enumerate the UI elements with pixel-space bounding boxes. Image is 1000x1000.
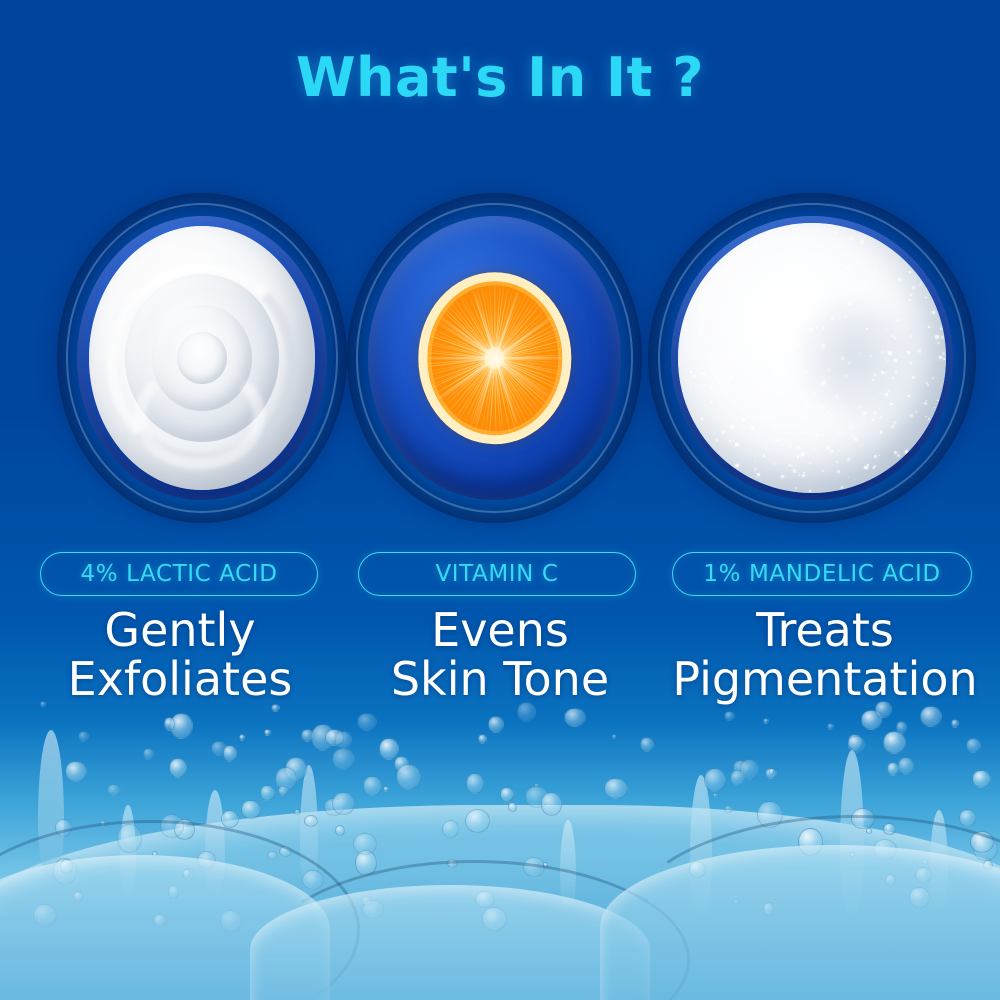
water-droplet bbox=[260, 785, 275, 801]
infographic-canvas: What's In It ? bbox=[0, 0, 1000, 1000]
powder-grain bbox=[848, 301, 851, 304]
orange-pith-line bbox=[496, 357, 565, 360]
water-droplet bbox=[466, 773, 484, 794]
powder-grain bbox=[907, 395, 909, 397]
powder-grain bbox=[719, 269, 720, 270]
powder-grain bbox=[851, 435, 852, 436]
water-droplet bbox=[294, 809, 301, 815]
powder-grain bbox=[772, 441, 774, 443]
powder-grain bbox=[874, 412, 876, 414]
powder-grain bbox=[745, 275, 747, 277]
powder-grain bbox=[723, 353, 726, 356]
water-droplet bbox=[357, 713, 377, 731]
powder-grain bbox=[773, 325, 775, 327]
powder-grain bbox=[747, 334, 749, 336]
powder-grain bbox=[816, 326, 818, 328]
powder-grain bbox=[808, 314, 811, 317]
powder-grain bbox=[791, 411, 794, 414]
powder-grain bbox=[784, 306, 786, 308]
powder-grain bbox=[755, 331, 757, 333]
powder-grain bbox=[796, 375, 797, 376]
cream-swirl-image bbox=[89, 226, 315, 490]
benefit-line-1: Evens bbox=[345, 606, 655, 655]
water-droplet bbox=[730, 770, 745, 786]
powder-grain bbox=[939, 356, 942, 359]
water-droplet bbox=[353, 833, 378, 855]
powder-grain bbox=[754, 243, 757, 246]
powder-grain bbox=[734, 277, 737, 280]
water-droplet bbox=[887, 762, 899, 777]
powder-grain bbox=[821, 293, 824, 296]
powder-grain bbox=[717, 378, 718, 379]
powder-grain bbox=[910, 335, 912, 337]
powder-grain bbox=[788, 464, 790, 466]
powder-grain bbox=[897, 454, 900, 457]
powder-grain bbox=[890, 403, 892, 405]
benefit-line-1: Gently bbox=[20, 606, 340, 655]
powder-grain bbox=[710, 401, 713, 404]
powder-grain bbox=[902, 396, 903, 397]
powder-grain bbox=[698, 305, 700, 307]
powder-grain bbox=[780, 437, 782, 439]
powder-grain bbox=[718, 381, 721, 384]
water-droplet bbox=[488, 716, 503, 733]
water-droplet bbox=[107, 784, 121, 796]
orange-pith-line bbox=[427, 357, 496, 360]
powder-grain bbox=[803, 264, 806, 267]
powder-grain bbox=[710, 386, 713, 389]
water-droplet bbox=[896, 721, 907, 733]
water-droplet bbox=[875, 701, 892, 718]
powder-grain bbox=[798, 290, 799, 291]
powder-grain bbox=[758, 303, 760, 305]
powder-grain bbox=[891, 425, 894, 428]
ingredient-bowl-vitamin-c bbox=[347, 193, 642, 523]
ingredient-bowl-lactic-acid bbox=[57, 193, 347, 523]
powder-grain bbox=[693, 375, 696, 378]
powder-grain bbox=[763, 455, 764, 456]
powder-grain bbox=[769, 318, 770, 319]
powder-grain bbox=[937, 400, 939, 402]
water-droplet bbox=[827, 723, 834, 730]
water-droplet bbox=[951, 719, 959, 728]
powder-grain bbox=[797, 446, 800, 449]
water-droplet bbox=[169, 758, 187, 778]
water-droplet bbox=[78, 731, 89, 743]
powder-grain bbox=[831, 317, 833, 319]
powder-grain bbox=[885, 372, 886, 373]
powder-grain bbox=[925, 297, 926, 298]
water-droplet bbox=[304, 815, 317, 827]
powder-grain bbox=[797, 455, 799, 457]
powder-grain bbox=[704, 300, 706, 302]
powder-grain bbox=[735, 443, 738, 446]
powder-grain bbox=[925, 416, 926, 417]
powder-grain bbox=[793, 469, 796, 472]
powder-grain bbox=[748, 277, 750, 279]
powder-grain bbox=[918, 349, 921, 352]
powder-grain bbox=[909, 271, 911, 273]
powder-grain bbox=[848, 477, 849, 478]
ingredient-pill-lactic-acid[interactable]: 4% LACTIC ACID bbox=[40, 552, 318, 596]
powder-grain bbox=[872, 419, 874, 421]
water-droplet bbox=[920, 706, 941, 727]
powder-grain bbox=[735, 464, 738, 467]
water-droplet bbox=[704, 768, 727, 792]
powder-grain bbox=[779, 353, 781, 355]
powder-grain bbox=[728, 287, 731, 290]
powder-grain bbox=[781, 444, 783, 446]
water-droplet bbox=[517, 702, 536, 721]
water-droplet bbox=[847, 736, 866, 753]
powder-grain bbox=[792, 243, 794, 245]
powder-grain bbox=[695, 312, 697, 314]
powder-grain bbox=[778, 392, 781, 395]
powder-grain bbox=[729, 376, 733, 380]
powder-grain bbox=[774, 424, 777, 427]
powder-grain bbox=[841, 293, 842, 294]
powder-grain bbox=[767, 305, 769, 307]
powder-grain bbox=[734, 318, 737, 321]
powder-grain bbox=[877, 418, 878, 419]
powder-grain bbox=[751, 427, 754, 430]
powder-grain bbox=[905, 450, 908, 453]
powder-grain bbox=[820, 406, 823, 409]
water-droplet bbox=[959, 809, 976, 827]
powder-grain bbox=[943, 358, 945, 360]
powder-grain bbox=[837, 470, 840, 473]
powder-grain bbox=[736, 358, 738, 360]
water-droplet bbox=[241, 800, 260, 818]
powder-grain bbox=[836, 461, 838, 463]
powder-grain bbox=[768, 414, 770, 416]
powder-grain bbox=[844, 407, 846, 409]
water-droplet bbox=[275, 767, 297, 791]
powder-grain bbox=[864, 423, 865, 424]
powder-grain bbox=[826, 293, 828, 295]
powder-grain bbox=[942, 352, 945, 355]
powder-grain bbox=[838, 449, 840, 451]
powder-grain bbox=[729, 440, 731, 442]
powder-grain bbox=[789, 445, 791, 447]
powder-grain bbox=[909, 362, 911, 364]
powder-grain bbox=[889, 254, 890, 255]
water-droplet bbox=[221, 810, 239, 828]
powder-grain bbox=[690, 371, 692, 373]
powder-grain bbox=[744, 292, 746, 294]
water-droplet bbox=[972, 770, 991, 788]
ingredient-pill-mandelic-acid[interactable]: 1% MANDELIC ACID bbox=[672, 552, 972, 596]
water-droplet bbox=[65, 761, 87, 782]
powder-grain bbox=[809, 490, 811, 492]
water-droplet bbox=[769, 768, 774, 774]
water-droplet bbox=[763, 718, 769, 724]
powder-grain bbox=[875, 265, 877, 267]
powder-grain bbox=[806, 291, 808, 293]
powder-grain bbox=[880, 416, 881, 417]
powder-grain bbox=[724, 326, 726, 328]
powder-grain bbox=[727, 383, 730, 386]
powder-grain bbox=[731, 357, 733, 359]
water-splash-image bbox=[0, 670, 1000, 1000]
powder-grain bbox=[767, 254, 769, 256]
powder-grain bbox=[766, 283, 769, 286]
water-droplet bbox=[271, 704, 280, 712]
powder-grain bbox=[845, 316, 847, 318]
powder-grain bbox=[912, 376, 915, 379]
powder-grain bbox=[838, 433, 840, 435]
powder-grain bbox=[765, 448, 766, 449]
powder-grain bbox=[789, 240, 790, 241]
powder-grain bbox=[769, 391, 770, 392]
water-droplet bbox=[465, 809, 490, 833]
powder-grain bbox=[827, 446, 830, 449]
water-droplet bbox=[332, 792, 354, 815]
powder-grain bbox=[719, 350, 721, 352]
powder-grain bbox=[806, 309, 809, 312]
powder-grain bbox=[848, 262, 850, 264]
powder-grain bbox=[849, 237, 852, 240]
powder-grain bbox=[818, 463, 820, 465]
powder-grain bbox=[788, 304, 790, 306]
water-droplet bbox=[478, 734, 487, 743]
water-droplet bbox=[239, 734, 245, 741]
powder-grain bbox=[848, 362, 850, 364]
powder-grain bbox=[790, 275, 791, 276]
powder-grain bbox=[927, 384, 929, 386]
powder-grain bbox=[787, 409, 789, 411]
water-droplet bbox=[143, 748, 154, 759]
orange-slice-image bbox=[418, 272, 571, 444]
powder-grain bbox=[710, 315, 712, 317]
powder-grain bbox=[713, 329, 715, 331]
powder-grain bbox=[822, 470, 824, 472]
powder-grain bbox=[812, 392, 815, 395]
powder-grain bbox=[701, 418, 703, 420]
water-droplet bbox=[335, 825, 345, 836]
water-droplet bbox=[966, 738, 981, 753]
powder-grain bbox=[809, 462, 811, 464]
water-droplet bbox=[383, 786, 389, 792]
powder-grain bbox=[894, 359, 897, 362]
powder-grain bbox=[801, 369, 803, 371]
water-droplet bbox=[223, 745, 238, 762]
powder-grain bbox=[802, 474, 805, 477]
powder-grain bbox=[775, 298, 778, 301]
powder-grain bbox=[865, 474, 866, 475]
powder-grain bbox=[722, 431, 725, 434]
powder-grain bbox=[746, 272, 748, 274]
powder-grain bbox=[730, 425, 733, 428]
water-droplet bbox=[40, 701, 46, 707]
powder-grain bbox=[828, 369, 830, 371]
powder-image bbox=[678, 223, 947, 494]
water-droplet bbox=[332, 748, 355, 770]
powder-grain bbox=[777, 439, 780, 442]
powder-grain bbox=[798, 368, 799, 369]
powder-grain bbox=[872, 467, 874, 469]
powder-grain bbox=[834, 231, 837, 234]
powder-grain bbox=[686, 329, 688, 331]
powder-grain bbox=[822, 381, 825, 384]
powder-grain bbox=[915, 411, 917, 413]
powder-grain bbox=[932, 377, 934, 379]
powder-grain bbox=[845, 375, 847, 377]
powder-grain bbox=[775, 293, 777, 295]
powder-grain bbox=[773, 371, 776, 374]
water-droplet bbox=[301, 729, 314, 742]
powder-grain bbox=[816, 251, 818, 253]
powder-grain bbox=[856, 262, 857, 263]
powder-grain bbox=[754, 468, 757, 471]
water-droplet bbox=[264, 729, 270, 736]
powder-grain bbox=[888, 351, 892, 355]
powder-grain bbox=[804, 313, 807, 316]
water-droplet bbox=[442, 820, 460, 838]
powder-grain bbox=[738, 281, 740, 283]
powder-grain bbox=[841, 486, 844, 489]
powder-grain bbox=[816, 433, 819, 436]
powder-grain bbox=[738, 255, 741, 258]
powder-grain bbox=[845, 283, 846, 284]
powder-grain bbox=[790, 266, 792, 268]
powder-grain bbox=[798, 474, 800, 476]
powder-grain bbox=[926, 400, 927, 401]
powder-grain bbox=[781, 475, 784, 478]
powder-grain bbox=[795, 487, 797, 489]
powder-grain bbox=[689, 397, 690, 398]
powder-grain bbox=[805, 403, 808, 406]
ingredient-pill-row: 4% LACTIC ACID VITAMIN C 1% MANDELIC ACI… bbox=[0, 552, 1000, 600]
ingredient-bowls-row bbox=[0, 193, 1000, 528]
powder-grain bbox=[813, 448, 815, 450]
powder-grain bbox=[874, 455, 877, 458]
powder-grain bbox=[941, 336, 944, 339]
powder-grain bbox=[755, 461, 756, 462]
water-droplet bbox=[724, 711, 735, 721]
water-droplet bbox=[500, 787, 514, 802]
powder-grain bbox=[801, 453, 804, 456]
powder-grain bbox=[928, 418, 930, 420]
water-droplet bbox=[604, 778, 628, 800]
powder-grain bbox=[821, 433, 824, 436]
powder-grain bbox=[910, 414, 913, 417]
powder-grain bbox=[706, 355, 707, 356]
powder-grain bbox=[880, 431, 883, 434]
powder-grain bbox=[934, 407, 935, 408]
powder-grain bbox=[757, 473, 760, 476]
powder-grain bbox=[742, 388, 743, 389]
powder-grain bbox=[932, 311, 936, 315]
powder-grain bbox=[841, 357, 844, 360]
powder-grain bbox=[742, 418, 745, 421]
powder-grain bbox=[896, 302, 897, 303]
ingredient-pill-vitamin-c[interactable]: VITAMIN C bbox=[358, 552, 636, 596]
powder-grain bbox=[827, 410, 831, 414]
powder-grain bbox=[761, 444, 762, 445]
powder-grain bbox=[847, 458, 850, 461]
powder-grain bbox=[898, 278, 901, 281]
powder-grain bbox=[924, 402, 927, 405]
powder-grain bbox=[799, 281, 802, 284]
water-droplet bbox=[713, 793, 718, 797]
powder-grain bbox=[800, 246, 803, 249]
powder-grain bbox=[753, 355, 755, 357]
powder-grain bbox=[716, 439, 718, 441]
powder-grain bbox=[831, 450, 833, 452]
powder-grain bbox=[850, 426, 852, 428]
powder-grain bbox=[743, 351, 745, 353]
powder-grain bbox=[774, 463, 775, 464]
powder-grain bbox=[836, 246, 839, 249]
powder-grain bbox=[733, 440, 735, 442]
water-droplet bbox=[325, 729, 344, 747]
powder-grain bbox=[736, 402, 738, 404]
water-droplet bbox=[541, 792, 563, 816]
powder-grain bbox=[729, 311, 730, 312]
powder-grain bbox=[733, 264, 736, 267]
water-droplet bbox=[534, 783, 539, 788]
powder-grain bbox=[794, 315, 795, 316]
powder-grain bbox=[897, 319, 899, 321]
powder-grain bbox=[703, 352, 705, 354]
powder-grain bbox=[785, 370, 788, 373]
powder-grain bbox=[910, 294, 912, 296]
powder-grain bbox=[854, 438, 858, 442]
powder-grain bbox=[791, 421, 793, 423]
powder-grain bbox=[928, 326, 930, 328]
powder-grain bbox=[735, 255, 738, 258]
powder-grain bbox=[720, 400, 721, 401]
powder-grain bbox=[713, 289, 716, 292]
powder-grain bbox=[935, 335, 938, 338]
ingredient-bowl-mandelic-acid bbox=[648, 193, 976, 523]
powder-grain bbox=[695, 385, 697, 387]
powder-grain bbox=[937, 342, 940, 345]
powder-grain bbox=[809, 328, 812, 331]
powder-grain bbox=[912, 286, 915, 289]
powder-grain bbox=[864, 466, 867, 469]
powder-grain bbox=[819, 309, 821, 311]
powder-grain bbox=[821, 344, 824, 347]
water-droplet bbox=[379, 738, 398, 760]
benefit-line-1: Treats bbox=[660, 606, 990, 655]
powder-grain bbox=[879, 455, 880, 456]
powder-grain bbox=[830, 414, 833, 417]
water-droplet bbox=[883, 731, 906, 754]
water-droplet bbox=[898, 757, 915, 775]
powder-grain bbox=[919, 284, 920, 285]
page-title: What's In It ? bbox=[0, 46, 1000, 109]
powder-grain bbox=[845, 267, 848, 270]
powder-grain bbox=[801, 252, 803, 254]
powder-grain bbox=[863, 412, 866, 415]
powder-grain bbox=[813, 279, 817, 283]
water-droplet bbox=[564, 708, 586, 727]
powder-grain bbox=[784, 246, 785, 247]
water-droplet bbox=[363, 776, 381, 797]
powder-grain bbox=[894, 421, 897, 424]
powder-grain bbox=[805, 276, 809, 280]
powder-grain bbox=[769, 397, 770, 398]
powder-grain bbox=[709, 378, 711, 380]
water-droplet bbox=[640, 737, 654, 752]
powder-grain bbox=[712, 304, 715, 307]
water-droplet bbox=[396, 764, 421, 790]
powder-grain bbox=[780, 373, 783, 376]
powder-grain bbox=[805, 371, 807, 373]
water-droplet bbox=[612, 734, 616, 739]
